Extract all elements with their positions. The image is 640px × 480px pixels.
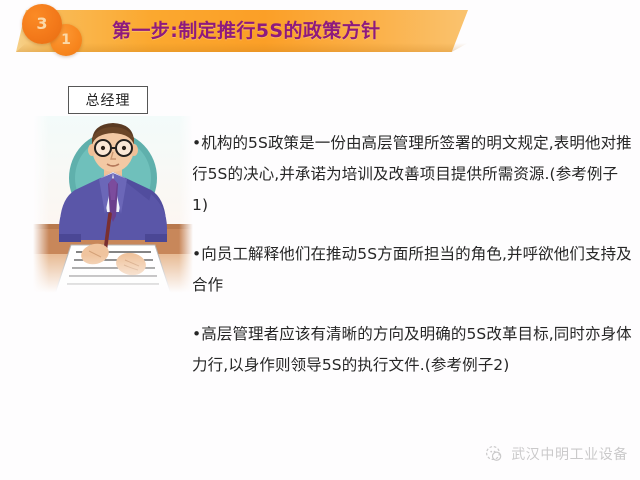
- watermark-text: 武汉中明工业设备: [511, 444, 628, 464]
- header-banner: 第一步:制定推行5S的政策方针: [16, 10, 468, 52]
- role-label-text: 总经理: [86, 90, 131, 110]
- watermark: 武汉中明工业设备: [484, 444, 628, 464]
- body-paragraph-3: •高层管理者应该有清晰的方向及明确的5S改革目标,同时亦身体力行,以身作则领导5…: [192, 319, 632, 381]
- step-number-badge-3: 3: [22, 4, 62, 44]
- illustration-bottom-fade: [33, 255, 193, 301]
- role-label-box: 总经理: [68, 86, 148, 114]
- manager-illustration: [33, 116, 193, 301]
- illustration-right-fade: [179, 116, 193, 301]
- page-title: 第一步:制定推行5S的政策方针: [112, 10, 381, 52]
- illustration-left-fade: [33, 116, 49, 301]
- slide-canvas: 第一步:制定推行5S的政策方针 3 1 总经理: [0, 0, 640, 480]
- wechat-logo-icon: [484, 444, 504, 464]
- body-paragraph-2: •向员工解释他们在推动5S方面所担当的角色,并呼欲他们支持及合作: [192, 239, 632, 301]
- body-paragraph-1: •机构的5S政策是一份由高层管理所签署的明文规定,表明他对推行5S的决心,并承诺…: [192, 128, 632, 221]
- body-text-block: •机构的5S政策是一份由高层管理所签署的明文规定,表明他对推行5S的决心,并承诺…: [192, 128, 632, 381]
